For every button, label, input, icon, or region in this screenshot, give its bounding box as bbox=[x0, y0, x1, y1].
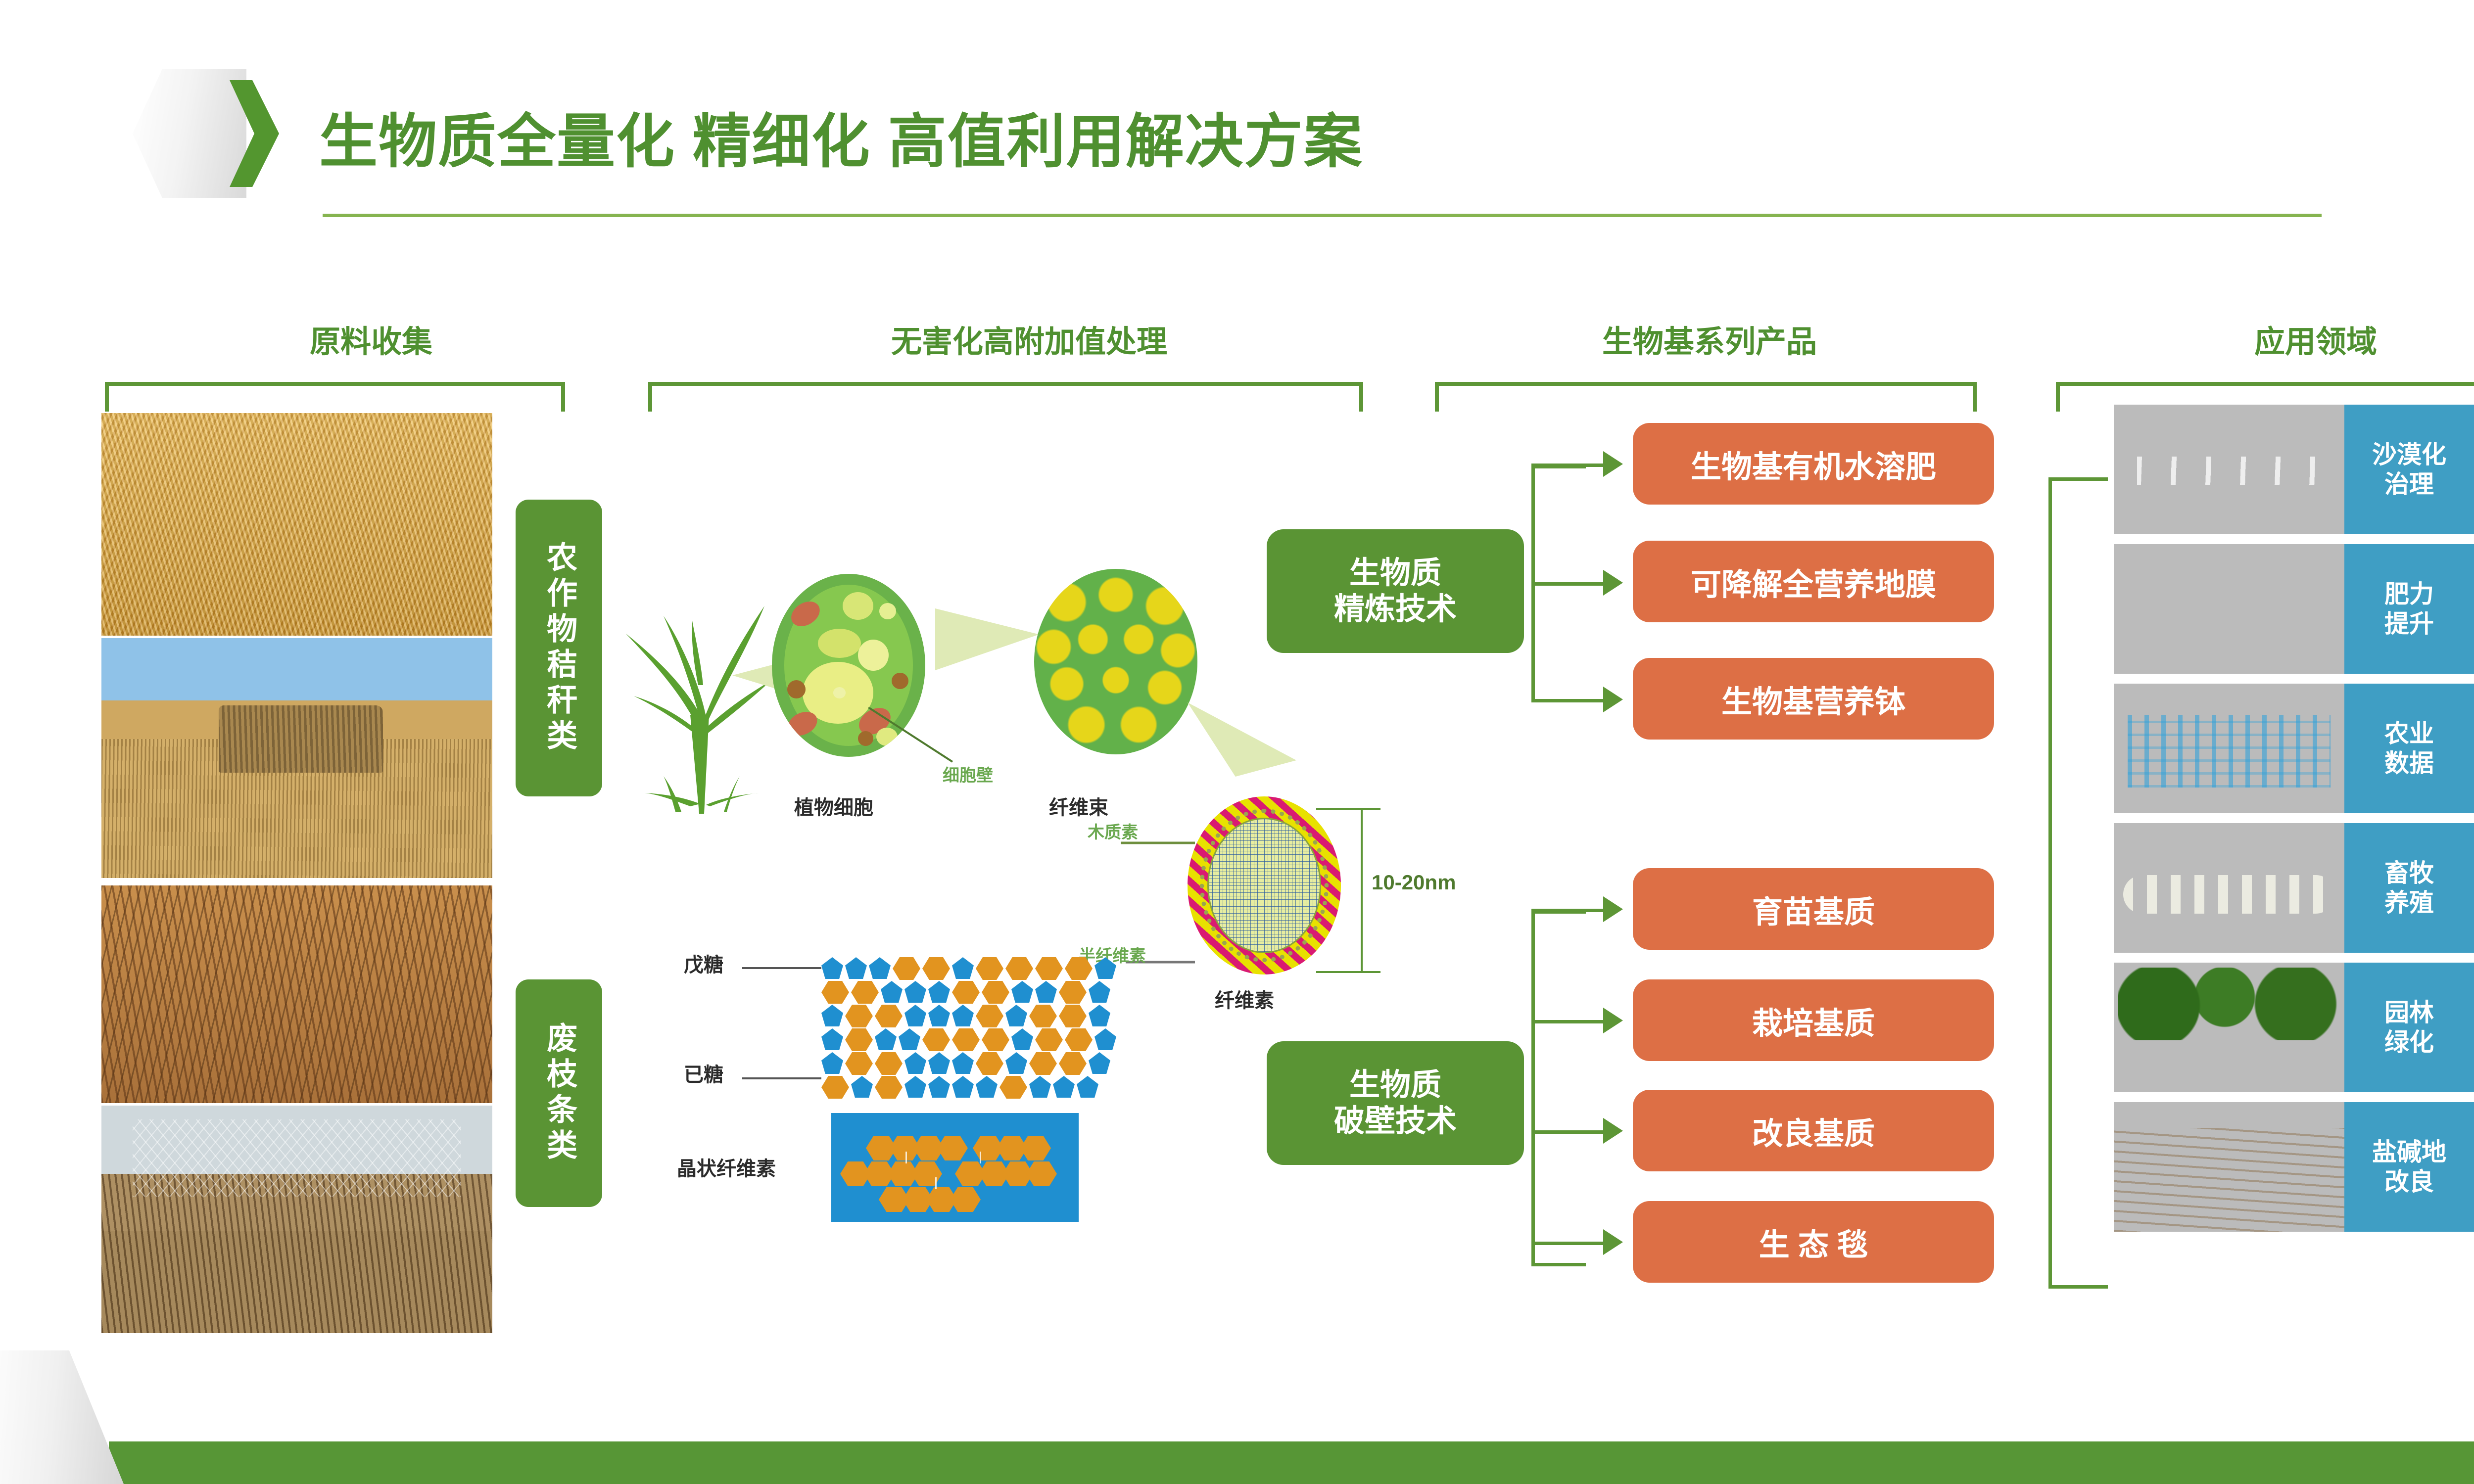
application-5-line2: 改良 bbox=[2384, 1167, 2434, 1197]
saline-land-photo bbox=[2114, 1102, 2344, 1232]
hexose-leader-line bbox=[742, 1077, 821, 1079]
connector-wallbreaking bbox=[1531, 910, 1586, 1266]
product-bio-nutrition-pot[interactable]: 生物基营养钵 bbox=[1633, 658, 1994, 740]
label-crystalline-cellulose: 晶状纤维素 bbox=[677, 1153, 776, 1181]
label-fiber-bundle: 纤维束 bbox=[1049, 791, 1108, 820]
application-row-4[interactable]: 园林 绿化 bbox=[2114, 963, 2474, 1092]
application-row-0[interactable]: 沙漠化 治理 bbox=[2114, 405, 2474, 534]
cellulose-core bbox=[1207, 818, 1321, 953]
corn-straw-photo bbox=[101, 413, 492, 636]
category-crop-straw: 农作物秸秆类 bbox=[516, 500, 602, 796]
product-cultivation-substrate[interactable]: 栽培基质 bbox=[1633, 979, 1994, 1061]
desert-control-photo bbox=[2114, 405, 2344, 534]
arrow-line-r3 bbox=[1531, 699, 1606, 702]
tech-wallbreaking-line2: 破壁技术 bbox=[1334, 1103, 1457, 1139]
footer-bar bbox=[109, 1441, 2474, 1484]
arrow-head-r1 bbox=[1603, 451, 1623, 477]
application-caption-4: 园林 绿化 bbox=[2344, 963, 2474, 1092]
application-caption-2: 农业 数据 bbox=[2344, 684, 2474, 813]
label-cellulose: 纤维素 bbox=[1215, 984, 1274, 1013]
application-caption-3: 畜牧 养殖 bbox=[2344, 823, 2474, 953]
label-hexose: 已糖 bbox=[684, 1059, 723, 1087]
hexagon-arrow-logo bbox=[133, 69, 266, 198]
application-3-line2: 养殖 bbox=[2384, 888, 2434, 918]
application-1-line1: 肥力 bbox=[2384, 579, 2434, 609]
label-lignin: 木质素 bbox=[1088, 819, 1138, 843]
dimension-line bbox=[1361, 809, 1363, 972]
arrow-head-w2 bbox=[1603, 1008, 1623, 1033]
arrow-line-r2 bbox=[1531, 582, 1606, 586]
label-dimension-10-20nm: 10-20nm bbox=[1372, 871, 1456, 894]
category-waste-branch: 废枝条类 bbox=[516, 979, 602, 1207]
zoom-cone-3 bbox=[1188, 702, 1296, 777]
application-4-line1: 园林 bbox=[2384, 998, 2434, 1027]
arrow-head-w3 bbox=[1603, 1118, 1623, 1144]
cellulose-fiber-crosssection bbox=[1188, 796, 1341, 974]
bracket-bio-products bbox=[1435, 382, 1977, 412]
dimension-cap-top bbox=[1316, 808, 1380, 810]
section-title-bio-products: 生物基系列产品 bbox=[1425, 317, 1994, 361]
park-greening-photo bbox=[2114, 963, 2344, 1092]
product-bio-water-soluble-fertilizer[interactable]: 生物基有机水溶肥 bbox=[1633, 423, 1994, 505]
arrow-line-w1 bbox=[1531, 909, 1606, 912]
connector-applications bbox=[2048, 477, 2108, 1289]
arrow-head-w4 bbox=[1603, 1229, 1623, 1255]
application-row-3[interactable]: 畜牧 养殖 bbox=[2114, 823, 2474, 953]
application-row-2[interactable]: 农业 数据 bbox=[2114, 684, 2474, 813]
section-title-application: 应用领域 bbox=[2093, 317, 2474, 361]
label-pentose: 戊糖 bbox=[684, 949, 723, 977]
product-biodegradable-mulch-film[interactable]: 可降解全营养地膜 bbox=[1633, 541, 1994, 622]
page-title: 生物质全量化 精细化 高值利用解决方案 bbox=[319, 94, 1363, 179]
sheep-grazing-photo bbox=[2114, 823, 2344, 953]
arrow-line-w3 bbox=[1531, 1130, 1606, 1134]
application-caption-0: 沙漠化 治理 bbox=[2344, 405, 2474, 534]
fiber-bundle-illustration bbox=[1034, 569, 1197, 754]
pentose-leader-line bbox=[742, 967, 821, 969]
application-0-line2: 治理 bbox=[2384, 469, 2434, 499]
application-2-line1: 农业 bbox=[2384, 719, 2434, 748]
zoom-cone-2 bbox=[935, 608, 1039, 670]
sugar-chain-diagram bbox=[821, 957, 1138, 1106]
agriculture-data-center-photo bbox=[2114, 684, 2344, 813]
bracket-harmless bbox=[648, 382, 1363, 412]
tech-box-wallbreaking[interactable]: 生物质 破壁技术 bbox=[1267, 1041, 1524, 1165]
label-cell-wall: 细胞壁 bbox=[943, 762, 993, 786]
application-row-1[interactable]: 肥力 提升 bbox=[2114, 544, 2474, 674]
footer-corner-shape bbox=[0, 1350, 124, 1484]
product-seedling-substrate[interactable]: 育苗基质 bbox=[1633, 868, 1994, 950]
section-title-harmless: 无害化高附加值处理 bbox=[638, 317, 1420, 361]
tech-wallbreaking-line1: 生物质 bbox=[1349, 1067, 1441, 1103]
slide-canvas: 生物质全量化 精细化 高值利用解决方案 原料收集 无害化高附加值处理 生物基系列… bbox=[0, 0, 2474, 1484]
tech-box-refining[interactable]: 生物质 精炼技术 bbox=[1267, 529, 1524, 653]
application-4-line2: 绿化 bbox=[2384, 1027, 2434, 1057]
arrow-head-r2 bbox=[1603, 570, 1623, 596]
application-caption-5: 盐碱地 改良 bbox=[2344, 1102, 2474, 1232]
cabbage-field-photo bbox=[2114, 544, 2344, 674]
crystalline-cellulose-panel bbox=[831, 1113, 1079, 1222]
arrow-line-r1 bbox=[1531, 464, 1606, 467]
tech-refining-line2: 精炼技术 bbox=[1334, 591, 1457, 627]
vineyard-pruning-photo bbox=[101, 1106, 492, 1333]
section-title-raw-material: 原料收集 bbox=[148, 317, 594, 361]
application-2-line2: 数据 bbox=[2384, 748, 2434, 778]
application-0-line1: 沙漠化 bbox=[2372, 440, 2446, 469]
application-5-line1: 盐碱地 bbox=[2372, 1137, 2446, 1167]
product-ecological-blanket[interactable]: 生 态 毯 bbox=[1633, 1201, 1994, 1283]
application-caption-1: 肥力 提升 bbox=[2344, 544, 2474, 674]
dimension-cap-bottom bbox=[1316, 971, 1380, 973]
label-plant-cell: 植物细胞 bbox=[794, 791, 873, 820]
hexagon-shape bbox=[133, 69, 246, 198]
dry-branches-photo bbox=[101, 885, 492, 1103]
product-improved-substrate[interactable]: 改良基质 bbox=[1633, 1090, 1994, 1171]
straw-bale-photo bbox=[101, 638, 492, 878]
application-3-line1: 畜牧 bbox=[2384, 858, 2434, 888]
application-row-5[interactable]: 盐碱地 改良 bbox=[2114, 1102, 2474, 1232]
arrow-line-w2 bbox=[1531, 1020, 1606, 1023]
tech-refining-line1: 生物质 bbox=[1349, 555, 1441, 591]
arrow-head-r3 bbox=[1603, 687, 1623, 712]
title-underline bbox=[323, 214, 2322, 217]
application-1-line2: 提升 bbox=[2384, 609, 2434, 639]
arrow-line-w4 bbox=[1531, 1242, 1606, 1245]
arrow-head-w1 bbox=[1603, 896, 1623, 922]
bracket-raw-material bbox=[105, 382, 565, 412]
